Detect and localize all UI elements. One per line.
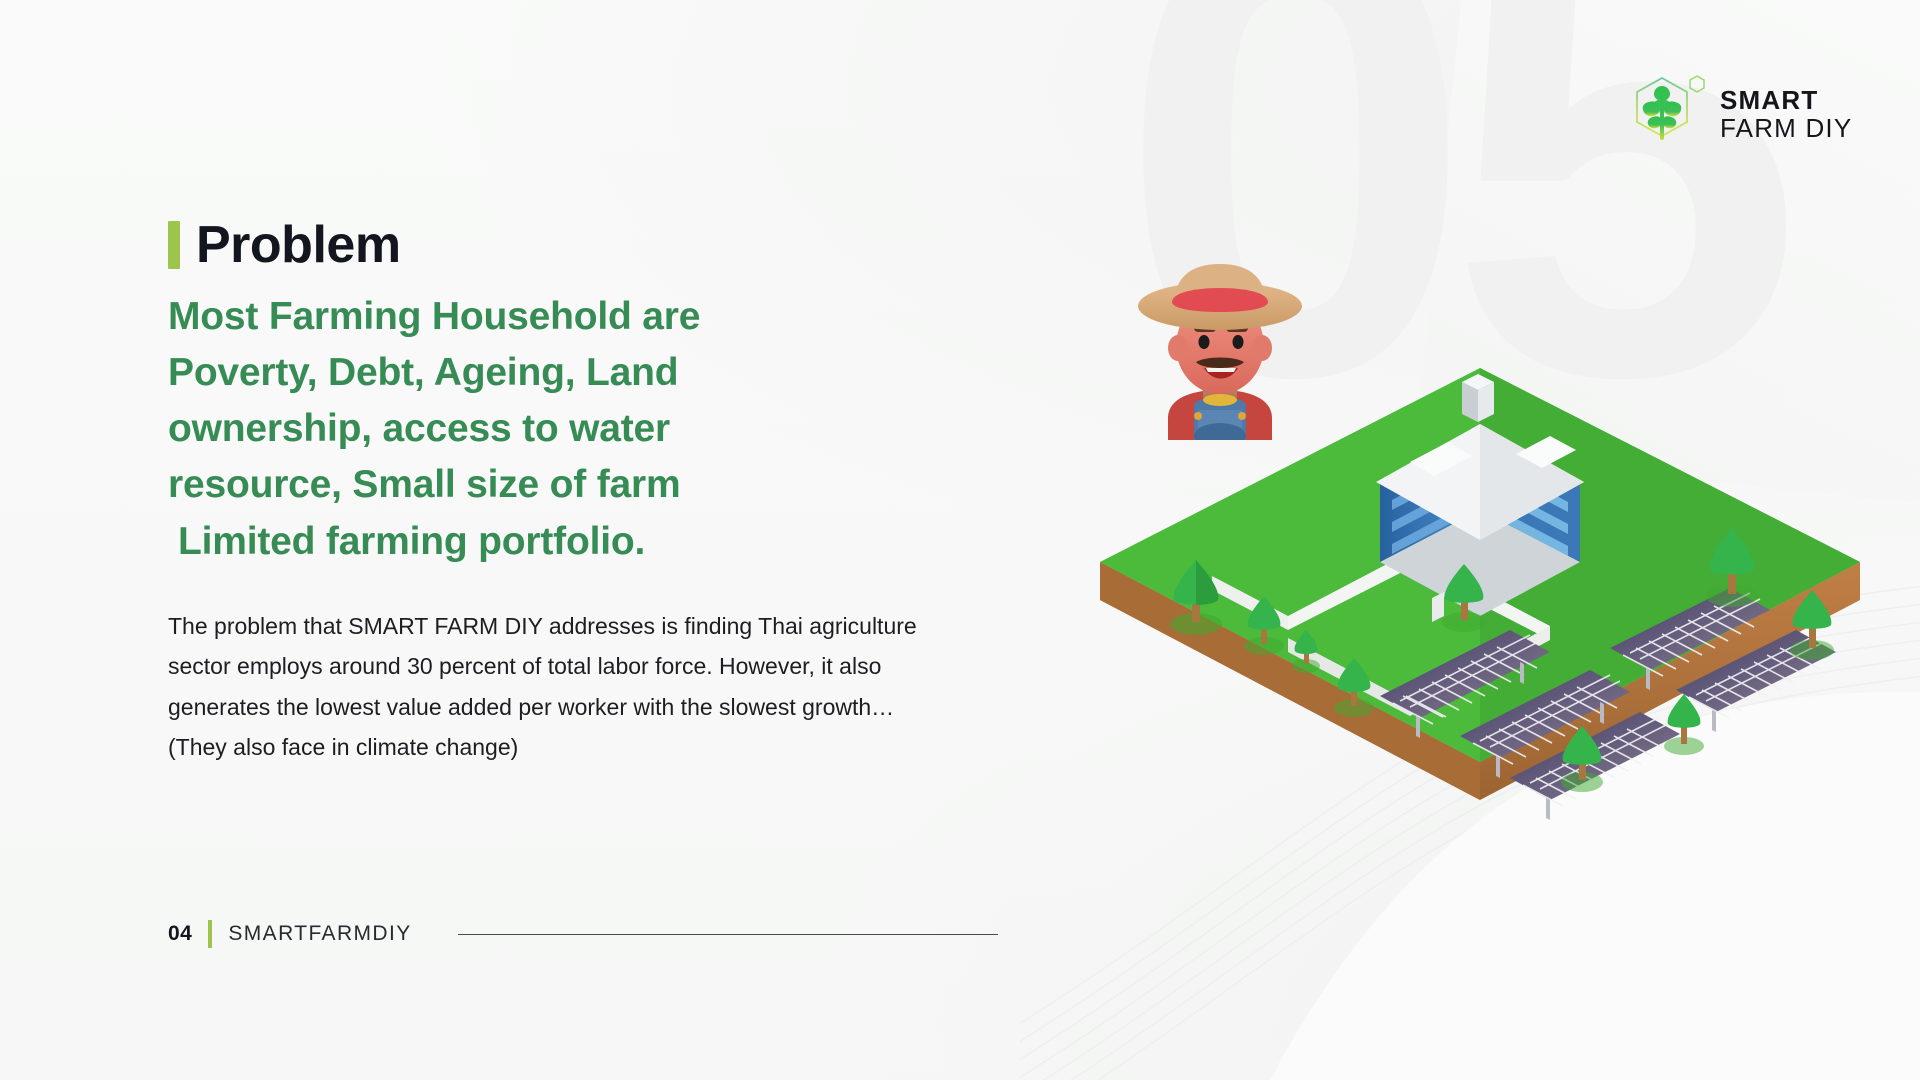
subheading-line: resource, Small size of farm xyxy=(168,457,808,513)
logo-text-smart: SMART xyxy=(1720,86,1852,114)
footer: 04 SMARTFARMDIY xyxy=(168,920,998,948)
body-paragraph: The problem that SMART FARM DIY addresse… xyxy=(168,606,948,768)
subheading-block: Most Farming Household are Poverty, Debt… xyxy=(168,289,808,570)
footer-accent-bar xyxy=(208,920,212,948)
subheading-line: Poverty, Debt, Ageing, Land xyxy=(168,345,808,401)
brand-logo: SMART FARM DIY xyxy=(1632,72,1852,156)
footer-page-number: 04 xyxy=(168,922,192,946)
subheading-line: ownership, access to water xyxy=(168,401,808,457)
slide-content: Problem Most Farming Household are Pover… xyxy=(168,215,1098,768)
footer-brand-name: SMARTFARMDIY xyxy=(228,922,411,946)
title-accent-bar xyxy=(168,221,180,269)
plant-hexagon-icon xyxy=(1632,72,1706,156)
page-title: Problem xyxy=(196,215,401,275)
subheading-line: Limited farming portfolio. xyxy=(168,514,808,570)
illustration-area xyxy=(1080,250,1880,950)
subheading-line: Most Farming Household are xyxy=(168,289,808,345)
title-row: Problem xyxy=(168,215,1098,275)
isometric-solar-farm-icon xyxy=(1080,330,1880,890)
footer-rule xyxy=(458,934,998,935)
logo-text-farmdiy: FARM DIY xyxy=(1720,114,1852,142)
